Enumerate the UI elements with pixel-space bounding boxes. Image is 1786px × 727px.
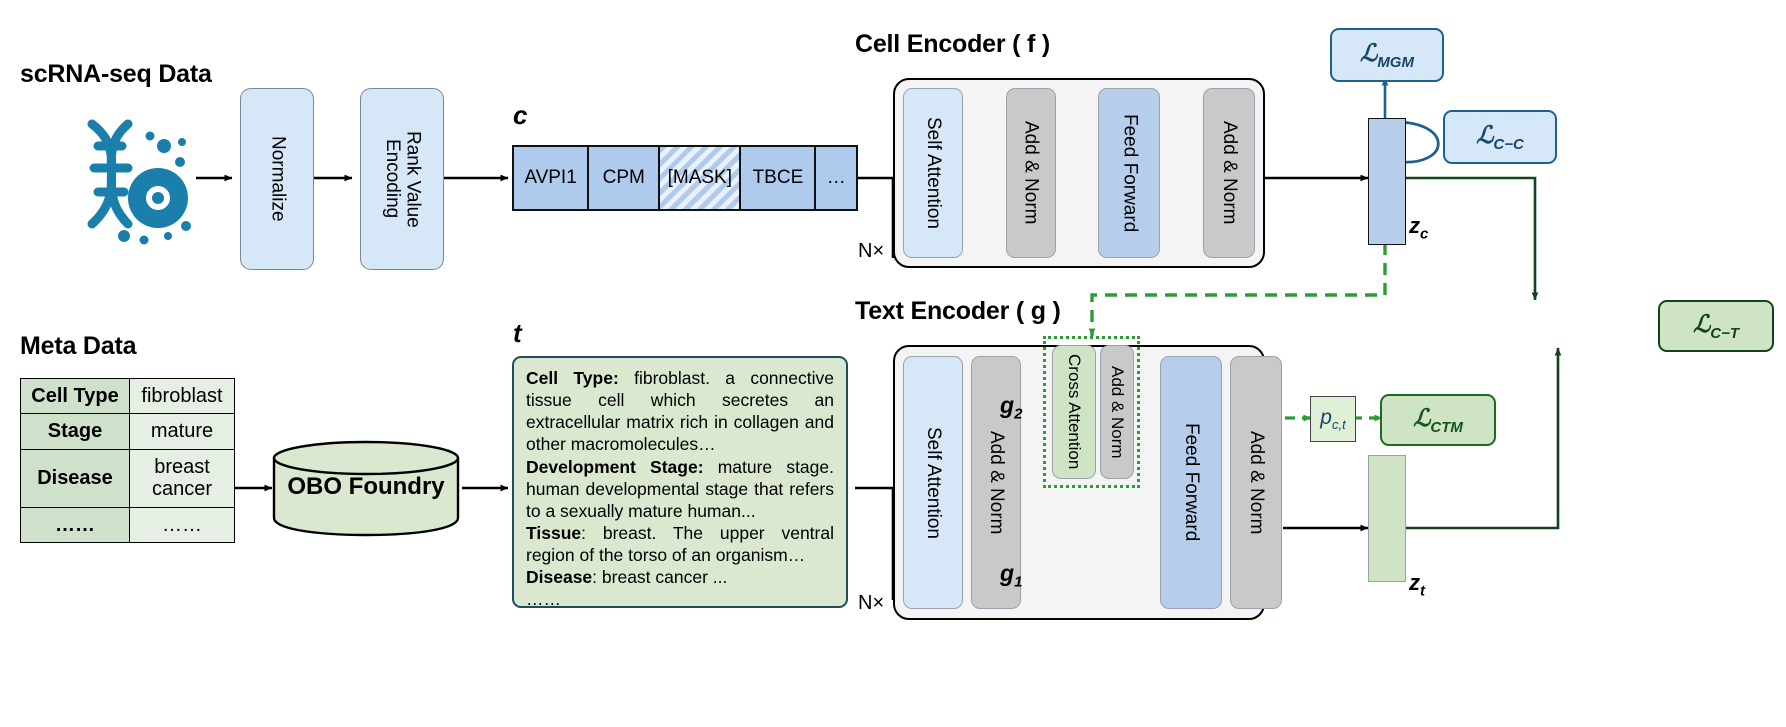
- cell-add-norm-2-label: Add & Norm: [1218, 121, 1240, 224]
- text-add-norm-3-label: Add & Norm: [1245, 431, 1267, 534]
- text-embedding-label: zt: [1409, 570, 1425, 599]
- gene-token: AVPI1: [514, 147, 589, 209]
- cell-embedding-bar: [1368, 118, 1406, 245]
- loss-ctm-label: ℒCTM: [1413, 404, 1463, 436]
- rank-value-encoding-block[interactable]: Rank Value Encoding: [360, 88, 444, 270]
- loss-ct-box[interactable]: ℒC−T: [1658, 300, 1774, 352]
- cell-self-attention-block[interactable]: Self Attention: [903, 88, 963, 258]
- meta-key-cell: Disease: [21, 449, 130, 507]
- text-input-symbol: t: [513, 318, 522, 349]
- cell-encoder-blocks: Self AttentionAdd & NormFeed ForwardAdd …: [903, 88, 1255, 258]
- text-self-attention-block[interactable]: Self Attention: [903, 356, 963, 609]
- cell-encoder-title: Cell Encoder ( f ): [855, 30, 1050, 59]
- meta-value-cell: mature: [130, 414, 235, 449]
- text-feed-forward-block[interactable]: Feed Forward: [1160, 356, 1222, 609]
- dna-helix-icon: [58, 106, 198, 246]
- cell-feed-forward-label: Feed Forward: [1118, 114, 1140, 232]
- meta-value-cell: ……: [130, 507, 235, 542]
- meta-key-cell: Cell Type: [21, 379, 130, 414]
- gene-token: [MASK]: [660, 147, 741, 209]
- gene-token-label: CPM: [603, 167, 645, 189]
- table-row: …………: [21, 507, 235, 542]
- ontology-field-name: Development Stage:: [526, 457, 704, 477]
- page-title-meta: Meta Data: [20, 332, 136, 361]
- ontology-field-name: Cell Type:: [526, 368, 619, 388]
- text-encoder-title: Text Encoder ( g ): [855, 297, 1061, 326]
- loss-ctm-box[interactable]: ℒCTM: [1380, 394, 1496, 446]
- gene-token-sequence: AVPI1CPM[MASK]TBCE…: [512, 145, 858, 211]
- meta-value-cell: breast cancer: [130, 449, 235, 507]
- ontology-text-line: ……: [526, 588, 834, 610]
- text-self-attention-label: Self Attention: [922, 427, 944, 539]
- gene-token-label: [MASK]: [668, 167, 732, 189]
- cell-feed-forward-block[interactable]: Feed Forward: [1098, 88, 1160, 258]
- loss-mgm-box: ℒMGM: [1330, 28, 1444, 82]
- meta-key-cell: Stage: [21, 414, 130, 449]
- normalize-block[interactable]: Normalize: [240, 88, 314, 270]
- gene-token-label: TBCE: [753, 167, 804, 189]
- cross-attention-label: Cross Attention: [1064, 354, 1084, 469]
- text-feed-forward-label: Feed Forward: [1180, 423, 1202, 541]
- ontology-field-name: Tissue: [526, 523, 581, 543]
- ontology-text-line: Disease: breast cancer ...: [526, 566, 834, 588]
- rank-value-encoding-label: Rank Value Encoding: [381, 89, 422, 269]
- switch-g1-label: g1: [1000, 560, 1022, 591]
- ontology-field-name: Disease: [526, 567, 592, 587]
- obo-foundry-database[interactable]: OBO Foundry: [270, 440, 462, 536]
- gene-token-label: …: [827, 167, 846, 189]
- text-add-norm-1-label: Add & Norm: [985, 431, 1007, 534]
- gene-token: CPM: [589, 147, 660, 209]
- cell-embedding-label: zc: [1409, 213, 1428, 242]
- gene-token-label: AVPI1: [524, 167, 576, 189]
- cell-input-symbol: c: [513, 100, 527, 131]
- meta-key-cell: ……: [21, 507, 130, 542]
- normalize-label: Normalize: [267, 136, 288, 222]
- ontology-text-box: Cell Type: fibroblast. a connective tiss…: [512, 356, 848, 608]
- cross-attention-block[interactable]: Cross Attention: [1052, 345, 1096, 479]
- meta-data-table: Cell TypefibroblastStagematureDiseasebre…: [20, 378, 235, 543]
- cell-add-norm-1-block[interactable]: Add & Norm: [1006, 88, 1056, 258]
- match-probability-box: pc,t: [1310, 396, 1356, 442]
- text-add-norm-2-label: Add & Norm: [1107, 366, 1127, 459]
- ontology-text-line: Tissue: breast. The upper ventral region…: [526, 522, 834, 566]
- loss-cc-box: ℒC−C: [1443, 110, 1557, 164]
- text-encoder-repeat-label: N×: [858, 592, 884, 615]
- text-add-norm-3-block[interactable]: Add & Norm: [1230, 356, 1282, 609]
- obo-foundry-label: OBO Foundry: [287, 473, 444, 501]
- cell-add-norm-1-label: Add & Norm: [1020, 121, 1042, 224]
- gene-token: …: [816, 147, 856, 209]
- loss-mgm-label: ℒMGM: [1360, 39, 1414, 71]
- table-row: Diseasebreast cancer: [21, 449, 235, 507]
- ontology-text-line: Cell Type: fibroblast. a connective tiss…: [526, 367, 834, 456]
- text-embedding-bar: [1368, 455, 1406, 582]
- cell-add-norm-2-block[interactable]: Add & Norm: [1203, 88, 1255, 258]
- gene-token: TBCE: [741, 147, 816, 209]
- switch-g2-label: g2: [1000, 392, 1022, 423]
- meta-value-cell: fibroblast: [130, 379, 235, 414]
- table-row: Cell Typefibroblast: [21, 379, 235, 414]
- cell-encoder-repeat-label: N×: [858, 240, 884, 263]
- loss-ct-label: ℒC−T: [1693, 310, 1739, 342]
- loss-cc-label: ℒC−C: [1476, 121, 1524, 153]
- table-row: Stagemature: [21, 414, 235, 449]
- cell-self-attention-label: Self Attention: [922, 117, 944, 229]
- ontology-text-line: Development Stage: mature stage. human d…: [526, 456, 834, 522]
- text-add-norm-2-block[interactable]: Add & Norm: [1100, 345, 1134, 479]
- page-title-scrna: scRNA-seq Data: [20, 60, 212, 89]
- match-probability-label: pc,t: [1320, 406, 1345, 432]
